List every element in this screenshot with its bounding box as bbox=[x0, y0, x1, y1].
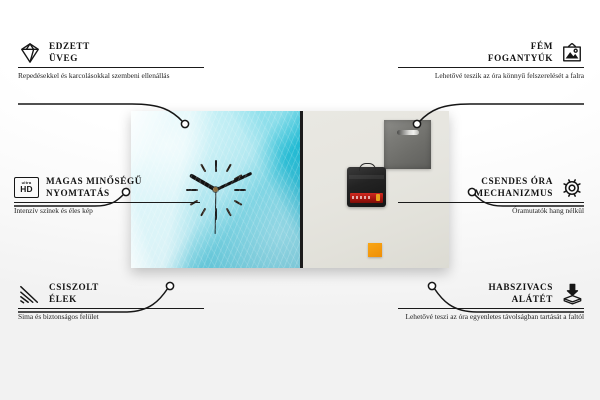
feature-description: Sima és biztonságos felület bbox=[18, 312, 204, 321]
feature-csiszolt-elek: CSISZOLT ÉLEK Sima és biztonságos felüle… bbox=[18, 282, 204, 321]
feature-title: CSISZOLT ÉLEK bbox=[49, 282, 99, 305]
feature-description: Lehetővé teszik az óra könnyű felszerelé… bbox=[398, 71, 584, 80]
foam-pad-arrow-icon bbox=[560, 283, 584, 305]
infographic-stage: EDZETT ÜVEG Repedésekkel és karcolásokka… bbox=[0, 0, 600, 400]
battery bbox=[350, 193, 383, 203]
foam-spacer-pad bbox=[368, 243, 382, 257]
divider bbox=[18, 67, 204, 68]
feature-description: Lehetővé teszi az óra egyenletes távolsá… bbox=[398, 312, 584, 321]
mechanism-band bbox=[349, 175, 384, 179]
feature-edzett-uveg: EDZETT ÜVEG Repedésekkel és karcolásokka… bbox=[18, 41, 204, 80]
feature-title: HABSZIVACS ALÁTÉT bbox=[488, 282, 553, 305]
divider bbox=[18, 308, 204, 309]
feature-title: FÉM FOGANTYÚK bbox=[488, 41, 553, 64]
divider bbox=[14, 202, 200, 203]
clock-minute-hand bbox=[215, 171, 253, 191]
hanger-slot bbox=[397, 130, 419, 135]
divider bbox=[398, 202, 584, 203]
metal-hanger-plate bbox=[384, 120, 431, 169]
feature-title: CSENDES ÓRA MECHANIZMUS bbox=[474, 176, 553, 199]
feature-title: EDZETT ÜVEG bbox=[49, 41, 90, 64]
divider bbox=[398, 308, 584, 309]
ultra-hd-big-text: HD bbox=[20, 185, 33, 193]
feature-description: Intenzív színek és éles kép bbox=[14, 206, 200, 215]
clock-second-hand bbox=[214, 189, 216, 233]
feature-title: MAGAS MINŐSÉGŰ NYOMTATÁS bbox=[46, 176, 142, 199]
ultra-hd-icon: ultra HD bbox=[14, 177, 39, 198]
diamond-icon bbox=[18, 42, 42, 64]
wall-hanger-icon bbox=[560, 42, 584, 64]
feature-description: Repedésekkel és karcolásokkal szembeni e… bbox=[18, 71, 204, 80]
divider bbox=[398, 67, 584, 68]
feature-habszivacs-alatet: HABSZIVACS ALÁTÉT Lehetővé teszi az óra … bbox=[398, 282, 584, 321]
polished-edges-icon bbox=[18, 283, 42, 305]
gear-icon bbox=[560, 177, 584, 199]
feature-magas-minosegu-nyomtatas: ultra HD MAGAS MINŐSÉGŰ NYOMTATÁS Intenz… bbox=[14, 176, 200, 215]
mechanism-loop bbox=[359, 163, 376, 171]
clock-center-hub bbox=[213, 187, 218, 192]
feature-fem-fogantyuk: FÉM FOGANTYÚK Lehetővé teszik az óra kön… bbox=[398, 41, 584, 80]
feature-csendes-ora-mechanizmus: CSENDES ÓRA MECHANIZMUS Óramutatók hang … bbox=[398, 176, 584, 215]
clock-mechanism bbox=[347, 167, 386, 207]
feature-description: Óramutatók hang nélkül bbox=[398, 206, 584, 215]
